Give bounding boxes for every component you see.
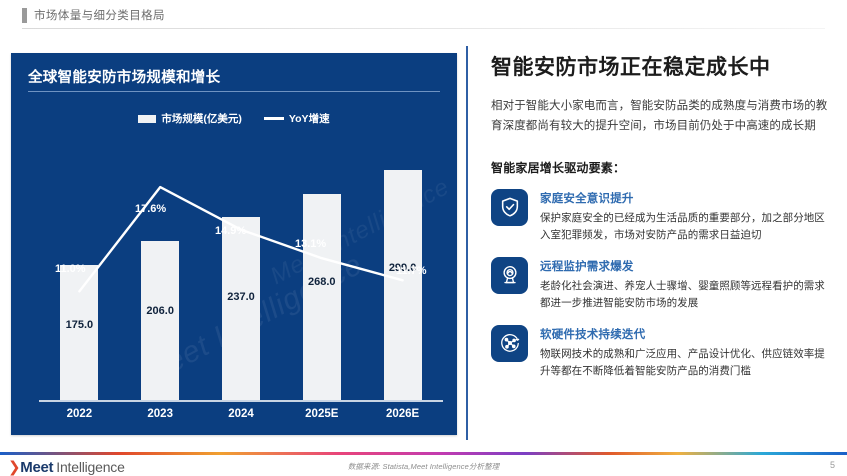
x-label: 2022 — [39, 408, 120, 420]
chart-x-axis — [39, 400, 443, 402]
source-note: 数据来源: Statista,Meet Intelligence分析整理 — [0, 461, 847, 472]
header-tick-icon — [22, 8, 27, 23]
factor-item: 远程监护需求爆发 老龄化社会演进、养宠人士骤增、婴童照顾等远程看护的需求都进一步… — [491, 257, 835, 312]
pct-label-2025e: 13.1% — [295, 238, 326, 250]
factor-list: 家庭安全意识提升 保护家庭安全的已经成为生活品质的重要部分，加之部分地区入室犯罪… — [491, 189, 835, 380]
factor-title: 远程监护需求爆发 — [540, 258, 835, 274]
page-number: 5 — [830, 460, 835, 470]
factor-title: 家庭安全意识提升 — [540, 190, 835, 206]
pct-label-2022: 11.0% — [55, 263, 86, 275]
pct-label-2024: 14.9% — [215, 225, 246, 237]
header-divider — [22, 28, 825, 29]
factor-body: 家庭安全意识提升 保护家庭安全的已经成为生活品质的重要部分，加之部分地区入室犯罪… — [540, 189, 835, 244]
chart-x-labels: 2022 2023 2024 2025E 2026E — [39, 408, 443, 420]
factor-desc: 物联网技术的成熟和广泛应用、产品设计优化、供应链效率提升等都在不断降低着智能安防… — [540, 346, 835, 380]
x-label: 2023 — [120, 408, 201, 420]
security-camera-icon — [491, 257, 528, 294]
pct-label-2023: 17.6% — [135, 203, 166, 215]
yoy-line-path — [79, 187, 402, 291]
network-nodes-icon — [491, 325, 528, 362]
section-subtitle: 智能家居增长驱动要素： — [491, 159, 835, 176]
factor-body: 软硬件技术持续迭代 物联网技术的成熟和广泛应用、产品设计优化、供应链效率提升等都… — [540, 325, 835, 380]
factor-body: 远程监护需求爆发 老龄化社会演进、养宠人士骤增、婴童照顾等远程看护的需求都进一步… — [540, 257, 835, 312]
page-title: 智能安防市场正在稳定成长中 — [491, 55, 835, 81]
chart-line-overlay — [11, 53, 457, 435]
factor-item: 家庭安全意识提升 保护家庭安全的已经成为生活品质的重要部分，加之部分地区入室犯罪… — [491, 189, 835, 244]
panel-divider — [466, 46, 468, 440]
shield-check-icon — [491, 189, 528, 226]
right-column: 智能安防市场正在稳定成长中 相对于智能大小家电而言，智能安防品类的成熟度与消费市… — [491, 55, 835, 393]
chart-panel: 全球智能安防市场规模和增长 Meet Intelligence Meet Int… — [11, 53, 457, 435]
x-label: 2024 — [201, 408, 282, 420]
factor-desc: 老龄化社会演进、养宠人士骤增、婴童照顾等远程看护的需求都进一步推进智能安防市场的… — [540, 278, 835, 312]
slide-footer: ❯Meet Intelligence 数据来源: Statista,Meet I… — [0, 455, 847, 476]
yoy-line-svg — [11, 53, 457, 435]
breadcrumb: 市场体量与细分类目格局 — [22, 7, 165, 23]
x-label: 2026E — [362, 408, 443, 420]
pct-label-2026e: 11.7% — [396, 265, 427, 277]
header-title: 市场体量与细分类目格局 — [34, 7, 165, 23]
slide: 市场体量与细分类目格局 全球智能安防市场规模和增长 Meet Intellige… — [0, 0, 847, 476]
x-label: 2025E — [281, 408, 362, 420]
lead-paragraph: 相对于智能大小家电而言，智能安防品类的成熟度与消费市场的教育深度都尚有较大的提升… — [491, 96, 835, 136]
slide-header: 市场体量与细分类目格局 — [0, 0, 847, 29]
factor-title: 软硬件技术持续迭代 — [540, 326, 835, 342]
factor-item: 软硬件技术持续迭代 物联网技术的成熟和广泛应用、产品设计优化、供应链效率提升等都… — [491, 325, 835, 380]
factor-desc: 保护家庭安全的已经成为生活品质的重要部分，加之部分地区入室犯罪频发，市场对安防产… — [540, 210, 835, 244]
